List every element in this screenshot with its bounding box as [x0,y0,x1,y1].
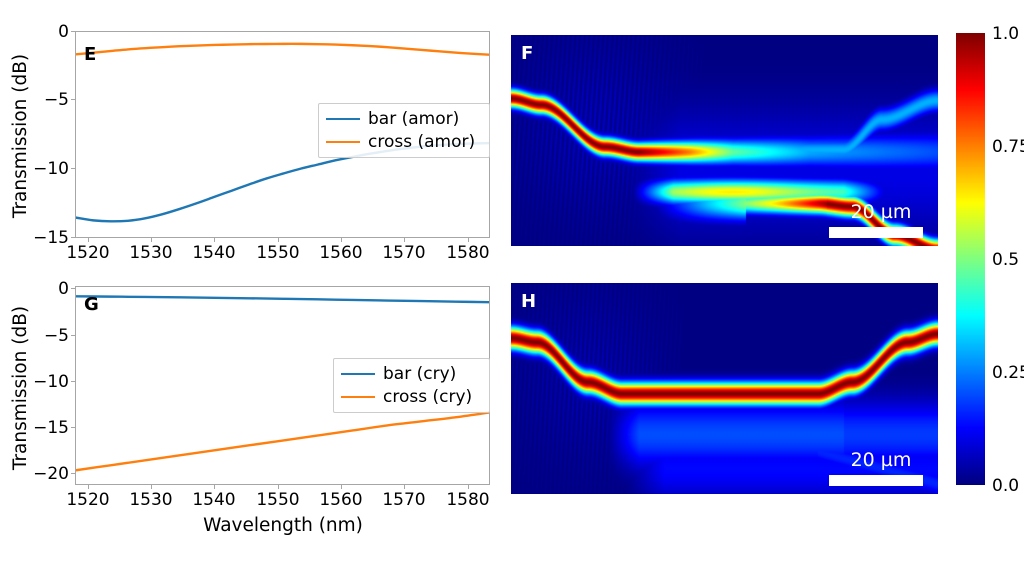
panel-E-xtick-mark [341,238,342,242]
panel-F-scalebar-label: 20 µm [826,201,936,223]
panel-G-ytick-0: 0 [4,279,69,299]
legend-swatch-bar-amor [326,118,360,120]
panel-E-xtick-mark [468,238,469,242]
legend-label-cross-amor: cross (amor) [368,133,475,152]
legend-item-cross-amor: cross (amor) [326,132,481,152]
colorbar-tick-0-0: 0.0 [992,476,1019,496]
panel-G-xtick-mark [404,485,405,489]
panel-E-xtick-mark [278,238,279,242]
series-line-bar-cry- [76,296,490,302]
panel-E-xtick-mark [214,238,215,242]
panel-G-xtick-mark [88,485,89,489]
panel-F-scalebar [829,227,923,238]
legend-item-bar-amor: bar (amor) [326,109,481,129]
colorbar-gradient [956,33,985,485]
colorbar [956,33,985,485]
colorbar-tick-1-0: 1.0 [992,24,1019,44]
panel-E-xtick-mark [88,238,89,242]
panel-E-ytick-1: −5 [14,90,69,110]
legend-label-bar-cry: bar (cry) [383,365,456,384]
series-line-cross-cry- [76,412,490,470]
panel-G-ytick-4: −20 [4,464,69,484]
panel-E-letter: E [84,44,96,65]
panel-H-scalebar [829,475,923,486]
panel-E-xtick-mark [151,238,152,242]
panel-G-ytick-3: −15 [4,418,69,438]
panel-G-xtick-mark [468,485,469,489]
panel-G-ytick-1: −5 [4,326,69,346]
panel-E-y-axis-label: Transmission (dB) [10,36,32,236]
panel-F-field-map: F 20 µm [511,35,938,246]
legend-item-cross-cry: cross (cry) [341,387,481,407]
panel-E-ytick-0: 0 [14,22,69,42]
colorbar-tick-0-5: 0.5 [992,250,1019,270]
panel-G-x-axis-label: Wavelength (nm) [183,515,383,536]
legend-label-cross-cry: cross (cry) [383,388,472,407]
panel-G-transmission-chart: Transmission (dB) 0 −5 −10 −15 −20 1520 … [0,270,500,576]
series-line-cross-amor- [76,44,490,55]
legend-label-bar-amor: bar (amor) [368,110,459,129]
legend-swatch-cross-amor [326,141,360,143]
panel-E-ytick-2: −10 [14,159,69,179]
panel-G-xtick-1580: 1580 [428,490,508,510]
panel-G-letter: G [84,294,99,315]
panel-E-xtick-mark [404,238,405,242]
panel-H-scalebar-label: 20 µm [826,449,936,471]
panel-G-ytick-2: −10 [4,372,69,392]
colorbar-tick-0-25: 0.25 [992,363,1024,383]
panel-G-xtick-mark [341,485,342,489]
panel-F-letter: F [521,43,533,64]
panel-G-xtick-mark [278,485,279,489]
panel-G-xtick-mark [214,485,215,489]
panel-H-letter: H [521,291,536,312]
colorbar-tick-0-75: 0.75 [992,137,1024,157]
panel-G-xtick-mark [151,485,152,489]
legend-item-bar-cry: bar (cry) [341,364,481,384]
panel-G-legend: bar (cry) cross (cry) [333,358,490,413]
panel-H-field-map: H 20 µm [511,283,938,494]
panel-E-legend: bar (amor) cross (amor) [318,103,490,158]
panel-E-xtick-1580: 1580 [428,243,508,263]
legend-swatch-bar-cry [341,373,375,375]
panel-E-transmission-chart: Transmission (dB) 0 −5 −10 −15 1520 1530… [0,0,500,270]
legend-swatch-cross-cry [341,396,375,398]
